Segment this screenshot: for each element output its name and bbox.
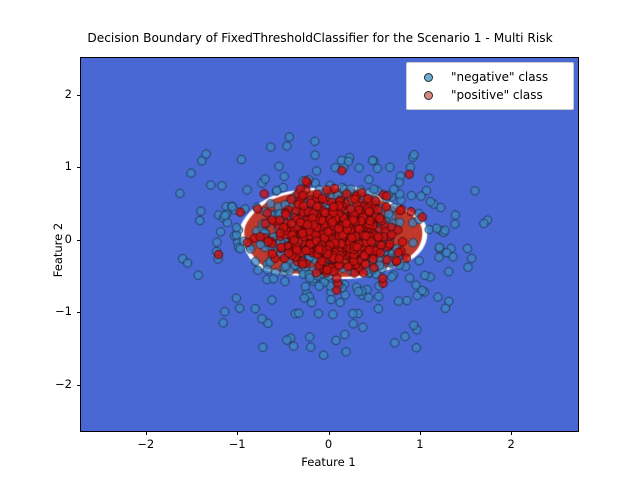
x-tick-mark (329, 431, 330, 435)
x-tick-mark (146, 431, 147, 435)
legend-label-positive: "positive" class (451, 88, 543, 102)
legend-marker-positive-icon (424, 91, 433, 100)
plot-area (80, 57, 579, 432)
x-tick-label: −1 (212, 437, 262, 451)
legend-item-positive: "positive" class (413, 86, 567, 104)
x-tick-label: 1 (395, 437, 445, 451)
y-tick-mark (77, 312, 81, 313)
x-axis-label: Feature 1 (80, 455, 577, 469)
legend-label-negative: "negative" class (451, 70, 548, 84)
scatter-decision-boundary-canvas (81, 58, 578, 431)
y-tick-mark (77, 167, 81, 168)
x-tick-mark (237, 431, 238, 435)
y-tick-label: −2 (38, 377, 72, 391)
x-tick-label: −2 (121, 437, 171, 451)
y-tick-label: 1 (38, 159, 72, 173)
legend-marker-negative-icon (424, 73, 433, 82)
x-tick-mark (420, 431, 421, 435)
x-tick-label: 0 (304, 437, 354, 451)
y-tick-label: 2 (38, 87, 72, 101)
y-tick-mark (77, 385, 81, 386)
y-axis-label: Feature 2 (51, 190, 65, 310)
y-tick-mark (77, 95, 81, 96)
x-tick-mark (511, 431, 512, 435)
x-tick-label: 2 (486, 437, 536, 451)
legend-item-negative: "negative" class (413, 68, 567, 86)
page-title: Decision Boundary of FixedThresholdClass… (0, 31, 640, 45)
legend: "negative" class "positive" class (406, 62, 574, 110)
y-tick-mark (77, 240, 81, 241)
matplotlib-figure: Decision Boundary of FixedThresholdClass… (0, 0, 640, 480)
